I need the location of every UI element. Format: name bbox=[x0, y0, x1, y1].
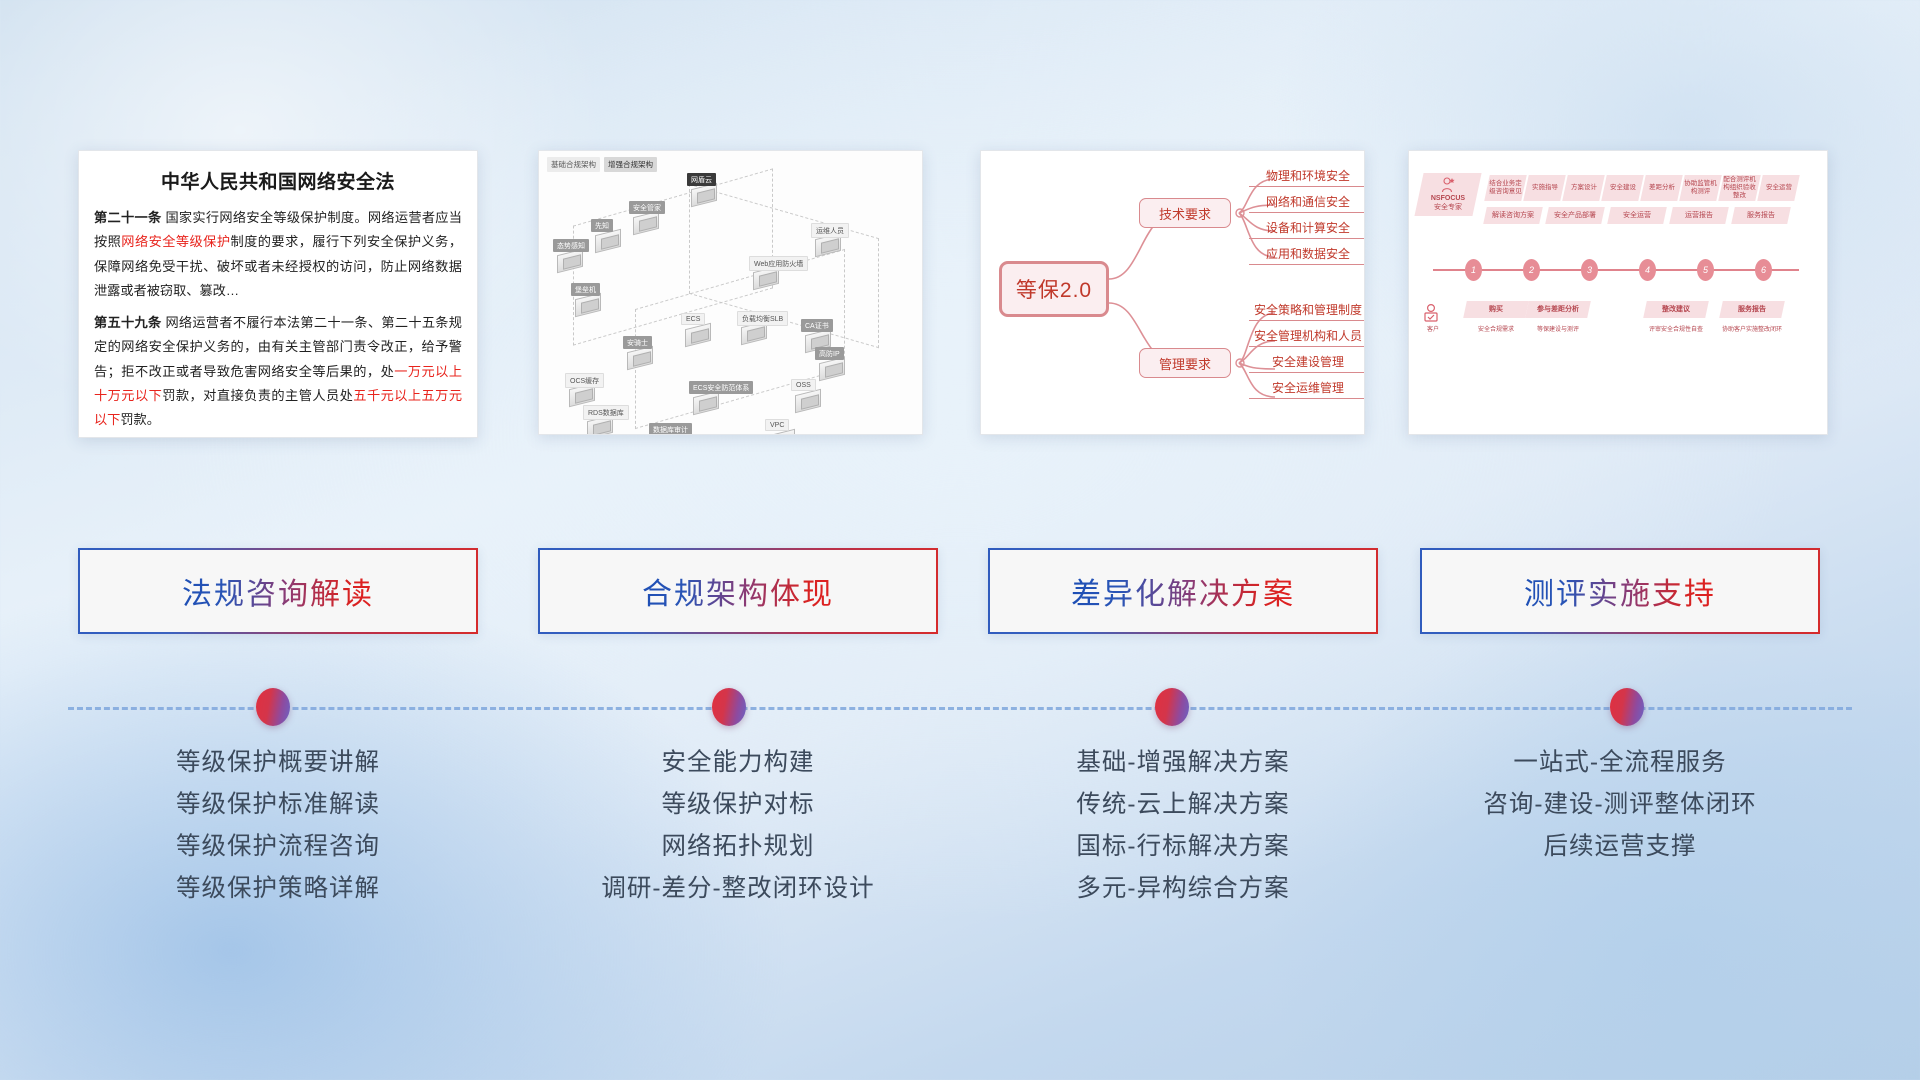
mindmap-leaf-node: 安全策略和管理制度 bbox=[1249, 301, 1365, 321]
feature-list-2: 安全能力构建等级保护对标网络拓扑规划调研-差分-整改闭环设计 bbox=[538, 742, 938, 911]
feature-list-item: 一站式-全流程服务 bbox=[1420, 742, 1820, 784]
timeline-marker-3[interactable] bbox=[1155, 688, 1189, 726]
architecture-node-label: 运维人员 bbox=[811, 223, 849, 238]
feature-list-item: 调研-差分-整改闭环设计 bbox=[538, 868, 938, 910]
expert-person-icon bbox=[1441, 177, 1455, 193]
process-bottom-node: 服务报告 bbox=[1719, 301, 1785, 318]
process-bottom-node-sub: 协助客户实施整改闭环 bbox=[1721, 327, 1783, 334]
customer-label: 客户 bbox=[1415, 327, 1451, 334]
pill-button-3[interactable]: 差异化解决方案 bbox=[988, 548, 1378, 634]
law-paragraph: 第二十一条 国家实行网络安全等级保护制度。网络运营者应当按照网络安全等级保护制度… bbox=[94, 206, 462, 304]
timeline-marker-2[interactable] bbox=[712, 688, 746, 726]
mindmap-branch-node: 管理要求 bbox=[1139, 348, 1231, 378]
architecture-node-label: 负载均衡SLB bbox=[737, 311, 788, 326]
mindmap-leaf-node: 网络和通信安全 bbox=[1249, 193, 1365, 213]
process-stage-label: 运营报告 bbox=[1669, 207, 1729, 224]
mindmap-leaf-node: 安全运维管理 bbox=[1249, 379, 1365, 399]
process-bottom-node-sub: 等保建设与测评 bbox=[1527, 327, 1589, 334]
architecture-node-label: VPC bbox=[765, 419, 789, 431]
mindmap-leaf-node: 安全建设管理 bbox=[1249, 353, 1365, 373]
pill-label-1: 法规咨询解读 bbox=[182, 569, 374, 613]
feature-list-1: 等级保护概要讲解等级保护标准解读等级保护流程咨询等级保护策略详解 bbox=[78, 742, 478, 911]
feature-list-item: 多元-异构综合方案 bbox=[988, 868, 1378, 910]
process-top-chip: 协助监管机构测评 bbox=[1679, 175, 1722, 201]
feature-list-item: 等级保护策略详解 bbox=[78, 868, 478, 910]
mindmap-leaf-node: 设备和计算安全 bbox=[1249, 219, 1365, 239]
architecture-node-shape bbox=[795, 389, 821, 413]
law-paragraph: 第五十九条 网络运营者不履行本法第二十一条、第二十五条规定的网络安全保护义务的，… bbox=[94, 311, 462, 433]
process-stage-label: 解读咨询方案 bbox=[1483, 207, 1543, 224]
architecture-node-label: 数据库审计 bbox=[649, 423, 692, 435]
architecture-tab[interactable]: 增强合规架构 bbox=[604, 157, 657, 172]
mindmap: 等保2.0 技术要求物理和环境安全网络和通信安全设备和计算安全应用和数据安全管理… bbox=[981, 151, 1364, 434]
feature-list-item: 传统-云上解决方案 bbox=[988, 784, 1378, 826]
feature-list-item: 等级保护标准解读 bbox=[78, 784, 478, 826]
architecture-node-label: 先知 bbox=[591, 219, 613, 232]
architecture-node-label: 高防IP bbox=[815, 347, 844, 360]
pill-button-1[interactable]: 法规咨询解读 bbox=[78, 548, 478, 634]
process-stage-label: 安全产品部署 bbox=[1545, 207, 1605, 224]
architecture-node-label: RDS数据库 bbox=[583, 405, 629, 420]
feature-list-item: 网络拓扑规划 bbox=[538, 826, 938, 868]
process-timeline-line bbox=[1433, 269, 1799, 271]
architecture-node-label: ECS bbox=[681, 313, 705, 325]
architecture-node-label: OCS缓存 bbox=[565, 373, 604, 388]
feature-list-4: 一站式-全流程服务咨询-建设-测评整体闭环后续运营支撑 bbox=[1420, 742, 1820, 868]
architecture-node-label: 安全管家 bbox=[629, 201, 665, 214]
architecture-node-label: CA证书 bbox=[801, 319, 833, 332]
law-article-number: 第二十一条 bbox=[94, 210, 161, 225]
expert-title-line1: NSFOCUS bbox=[1431, 195, 1465, 202]
law-text: 罚款，对直接负责的主管人员处 bbox=[162, 388, 353, 403]
process-step-marker: 3 bbox=[1581, 259, 1598, 281]
feature-list-item: 咨询-建设-测评整体闭环 bbox=[1420, 784, 1820, 826]
process-step-marker: 1 bbox=[1465, 259, 1482, 281]
law-article-number: 第五十九条 bbox=[94, 315, 161, 330]
architecture-node-label: 态势感知 bbox=[553, 239, 589, 252]
expert-badge: NSFOCUS 安全专家 bbox=[1414, 173, 1481, 216]
timeline-marker-4[interactable] bbox=[1610, 688, 1644, 726]
process-top-chip: 差距分析 bbox=[1640, 175, 1683, 201]
feature-list-item: 等级保护概要讲解 bbox=[78, 742, 478, 784]
timeline bbox=[0, 688, 1920, 728]
architecture-node-label: OSS bbox=[791, 379, 816, 391]
pill-button-4[interactable]: 测评实施支持 bbox=[1420, 548, 1820, 634]
pill-button-2[interactable]: 合规架构体现 bbox=[538, 548, 938, 634]
customer-icon-svg bbox=[1423, 303, 1441, 323]
cards-row: 中华人民共和国网络安全法 第二十一条 国家实行网络安全等级保护制度。网络运营者应… bbox=[0, 150, 1920, 440]
process-top-chip: 配合测评机构组织验收整改 bbox=[1718, 175, 1761, 201]
mindmap-branch-node: 技术要求 bbox=[1139, 198, 1231, 228]
process-bottom-node-sub: 评审安全合规性自查 bbox=[1645, 327, 1707, 334]
process-stage-label: 服务报告 bbox=[1731, 207, 1791, 224]
mindmap-root-node: 等保2.0 bbox=[999, 261, 1109, 317]
architecture-node-label: 安骑士 bbox=[623, 336, 652, 349]
law-text: 罚款。 bbox=[120, 412, 160, 427]
process-bottom-node-sub: 安全合规需求 bbox=[1465, 327, 1527, 334]
process-top-chip: 结合业务定级咨询意见 bbox=[1484, 175, 1527, 201]
architecture-node-label: 堡垒机 bbox=[571, 283, 600, 296]
process-card: NSFOCUS 安全专家 结合业务定级咨询意见实施指导方案设计安全建设差距分析协… bbox=[1408, 150, 1828, 435]
architecture-card: 基础合规架构增强合规架构 网盾云安全管家先知态势感知堡垒机安骑士OCS缓存RDS… bbox=[538, 150, 923, 435]
pill-label-2: 合规架构体现 bbox=[642, 569, 834, 613]
pill-label-4: 测评实施支持 bbox=[1524, 569, 1716, 613]
timeline-marker-1[interactable] bbox=[256, 688, 290, 726]
mindmap-leaf-node: 物理和环境安全 bbox=[1249, 167, 1365, 187]
pill-button-row: 法规咨询解读 合规架构体现 差异化解决方案 测评实施支持 bbox=[0, 548, 1920, 638]
architecture-tabs[interactable]: 基础合规架构增强合规架构 bbox=[547, 157, 657, 172]
law-highlight-text: 网络安全等级保护 bbox=[121, 234, 230, 249]
mindmap-leaf-node: 应用和数据安全 bbox=[1249, 245, 1365, 265]
feature-list-item: 国标-行标解决方案 bbox=[988, 826, 1378, 868]
process-top-chip: 方案设计 bbox=[1562, 175, 1605, 201]
mindmap-card: 等保2.0 技术要求物理和环境安全网络和通信安全设备和计算安全应用和数据安全管理… bbox=[980, 150, 1365, 435]
architecture-node-label: ECS安全防范体系 bbox=[689, 381, 753, 394]
customer-person-icon bbox=[1423, 303, 1441, 327]
architecture-diagram: 基础合规架构增强合规架构 网盾云安全管家先知态势感知堡垒机安骑士OCS缓存RDS… bbox=[539, 151, 922, 434]
feature-list-item: 安全能力构建 bbox=[538, 742, 938, 784]
architecture-node-label: Web应用防火墙 bbox=[749, 256, 808, 271]
timeline-dashed-line bbox=[68, 707, 1852, 710]
process-top-chip: 安全运营 bbox=[1757, 175, 1800, 201]
feature-list-3: 基础-增强解决方案传统-云上解决方案国标-行标解决方案多元-异构综合方案 bbox=[988, 742, 1378, 911]
feature-list-item: 等级保护对标 bbox=[538, 784, 938, 826]
feature-list-item: 等级保护流程咨询 bbox=[78, 826, 478, 868]
mindmap-leaf-node: 安全管理机构和人员 bbox=[1249, 327, 1365, 347]
law-card-body: 第二十一条 国家实行网络安全等级保护制度。网络运营者应当按照网络安全等级保护制度… bbox=[79, 206, 477, 438]
process-top-chip: 实施指导 bbox=[1523, 175, 1566, 201]
process-infographic: NSFOCUS 安全专家 结合业务定级咨询意见实施指导方案设计安全建设差距分析协… bbox=[1409, 151, 1827, 434]
process-bottom-node: 购买 bbox=[1463, 301, 1529, 318]
feature-lists: 等级保护概要讲解等级保护标准解读等级保护流程咨询等级保护策略详解 安全能力构建等… bbox=[0, 742, 1920, 982]
architecture-node-label: 网盾云 bbox=[687, 173, 716, 186]
architecture-tab[interactable]: 基础合规架构 bbox=[547, 157, 600, 172]
process-step-marker: 2 bbox=[1523, 259, 1540, 281]
law-card-title: 中华人民共和国网络安全法 bbox=[79, 167, 477, 194]
process-bottom-node: 整改建议 bbox=[1643, 301, 1709, 318]
process-step-marker: 6 bbox=[1755, 259, 1772, 281]
expert-title-line2: 安全专家 bbox=[1434, 204, 1462, 211]
process-top-chip: 安全建设 bbox=[1601, 175, 1644, 201]
feature-list-item: 后续运营支撑 bbox=[1420, 826, 1820, 868]
law-card: 中华人民共和国网络安全法 第二十一条 国家实行网络安全等级保护制度。网络运营者应… bbox=[78, 150, 478, 438]
pill-label-3: 差异化解决方案 bbox=[1071, 569, 1295, 613]
process-step-marker: 4 bbox=[1639, 259, 1656, 281]
feature-list-item: 基础-增强解决方案 bbox=[988, 742, 1378, 784]
process-bottom-node: 参与差距分析 bbox=[1525, 301, 1591, 318]
process-step-marker: 5 bbox=[1697, 259, 1714, 281]
process-stage-label: 安全运营 bbox=[1607, 207, 1667, 224]
